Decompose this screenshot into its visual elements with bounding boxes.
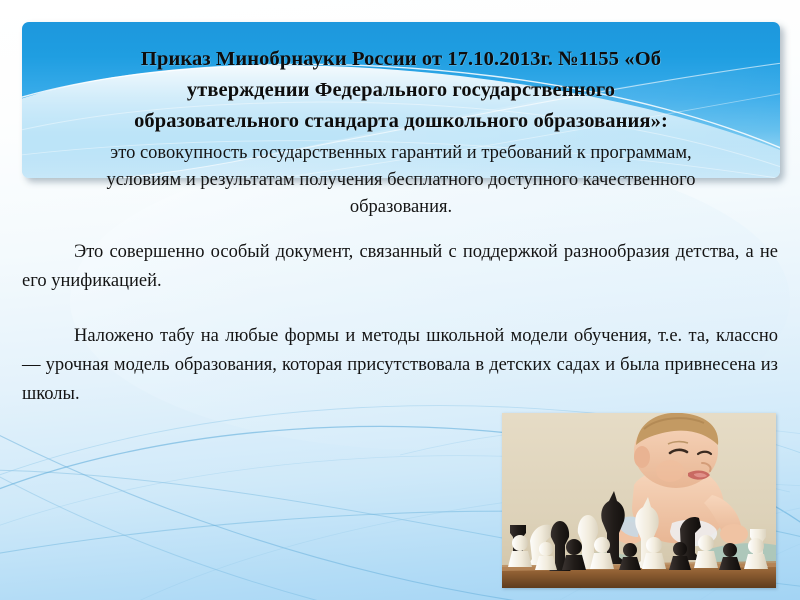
lead-line-1: это совокупность государственных гаранти…: [34, 140, 768, 167]
paragraph-1-text: Это совершенно особый документ, связанны…: [22, 242, 778, 291]
body-text-area: Это совершенно особый документ, связанны…: [22, 238, 778, 409]
slide-title: Приказ Минобрнауки России от 17.10.2013г…: [34, 44, 768, 137]
lead-paragraph: это совокупность государственных гаранти…: [34, 140, 768, 221]
paragraph-1: Это совершенно особый документ, связанны…: [22, 238, 778, 296]
title-line-1: Приказ Минобрнауки России от 17.10.2013г…: [34, 44, 768, 75]
title-line-3: образовательного стандарта дошкольного о…: [34, 106, 768, 137]
paragraph-2-text: Наложено табу на любые формы и методы шк…: [22, 326, 778, 404]
lead-line-2: условиям и результатам получения бесплат…: [34, 167, 768, 194]
title-line-2: утверждении Федерального государственног…: [34, 75, 768, 106]
paragraph-2: Наложено табу на любые формы и методы шк…: [22, 322, 778, 409]
lead-line-3: образования.: [34, 194, 768, 221]
baby-chess-photo: [502, 413, 776, 588]
photo-illustration: [502, 413, 776, 588]
slide-canvas: Приказ Минобрнауки России от 17.10.2013г…: [0, 0, 800, 600]
